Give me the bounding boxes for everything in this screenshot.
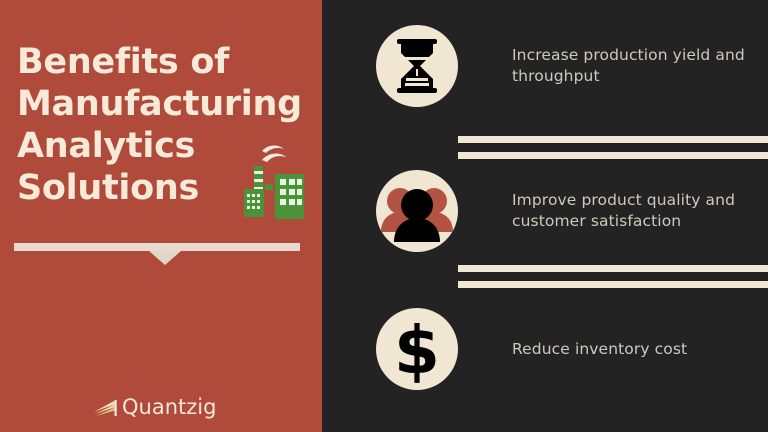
title-divider [14,243,300,265]
brand-logo: Quantzig [93,397,216,418]
hourglass-icon [376,25,458,107]
svg-text:$: $ [394,312,440,389]
divider-gap [458,143,768,152]
benefits-panel: Increase production yield and throughput [322,0,768,432]
section-divider [458,136,768,159]
section-divider [458,265,768,288]
title-divider-bar [14,243,300,251]
infographic-slide: Benefits of Manufacturing Analytics Solu… [0,0,768,432]
factory-icon [238,141,310,221]
title-panel: Benefits of Manufacturing Analytics Solu… [0,0,322,432]
divider-bar-bottom [458,152,768,159]
divider-bar-top [458,265,768,272]
benefit-label: Reduce inventory cost [512,339,768,360]
people-group-icon [376,170,458,252]
page-title-line-2: Manufacturing [17,83,307,125]
benefit-label: Improve product quality and customer sat… [512,190,768,232]
benefit-item[interactable]: Increase production yield and throughput [322,25,768,107]
fan-rays-icon [93,398,119,418]
divider-gap [458,272,768,281]
benefit-label: Increase production yield and throughput [512,45,768,87]
divider-bar-top [458,136,768,143]
chevron-down-icon [149,251,181,265]
page-title-line-1: Benefits of [17,41,307,83]
brand-name: Quantzig [122,397,216,418]
benefit-item[interactable]: Improve product quality and customer sat… [322,170,768,252]
divider-bar-bottom [458,281,768,288]
dollar-sign-icon: $ [376,308,458,390]
benefit-item[interactable]: $ Reduce inventory cost [322,308,768,390]
